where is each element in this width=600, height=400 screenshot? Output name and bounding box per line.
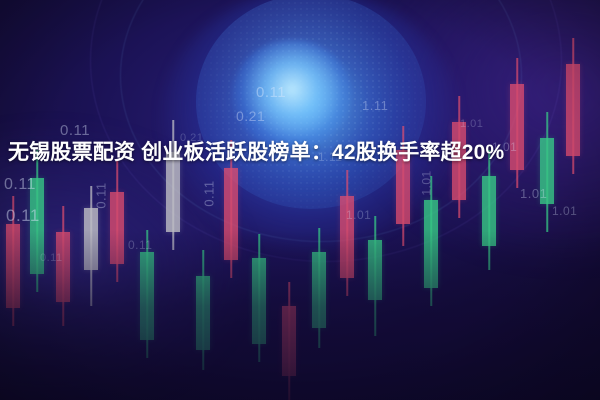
headline-text: 无锡股票配资 创业板活跃股榜单：42股换手率超20% — [8, 136, 592, 170]
stock-banner-image: 0.111.110.210.111.010.111.010.111.010.11… — [0, 0, 600, 400]
vignette — [0, 0, 600, 400]
